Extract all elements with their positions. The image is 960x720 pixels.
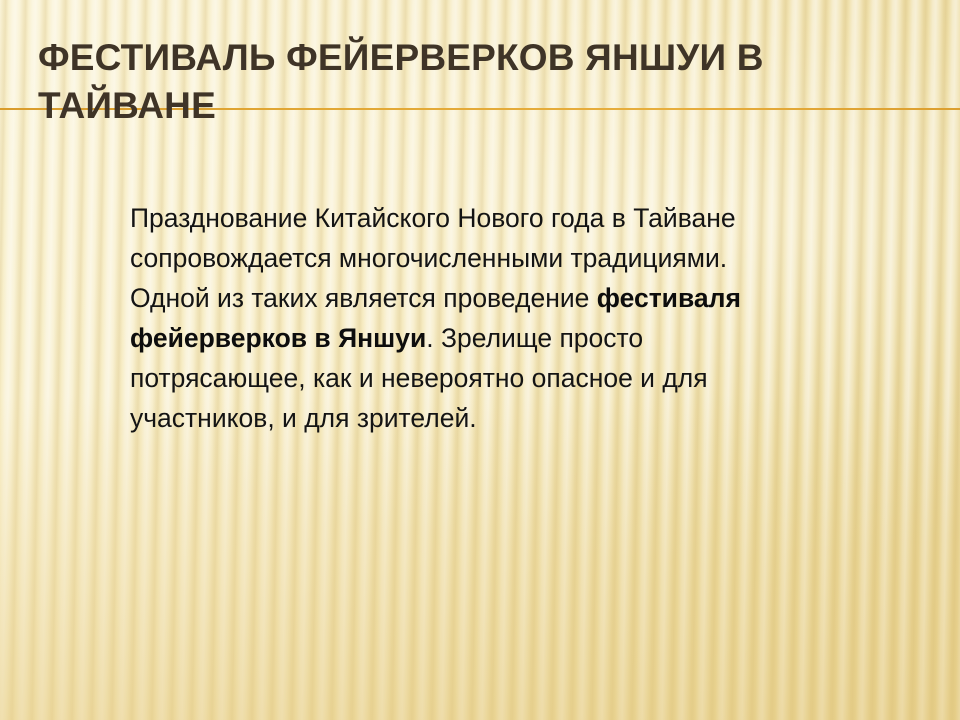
presentation-slide: ФЕСТИВАЛЬ ФЕЙЕРВЕРКОВ ЯНШУИ В ТАЙВАНЕ Пр… xyxy=(0,0,960,720)
page-title: ФЕСТИВАЛЬ ФЕЙЕРВЕРКОВ ЯНШУИ В ТАЙВАНЕ xyxy=(38,34,918,131)
title-block: ФЕСТИВАЛЬ ФЕЙЕРВЕРКОВ ЯНШУИ В ТАЙВАНЕ xyxy=(0,34,960,144)
body-paragraph: Празднование Китайского Нового года в Та… xyxy=(130,198,802,438)
